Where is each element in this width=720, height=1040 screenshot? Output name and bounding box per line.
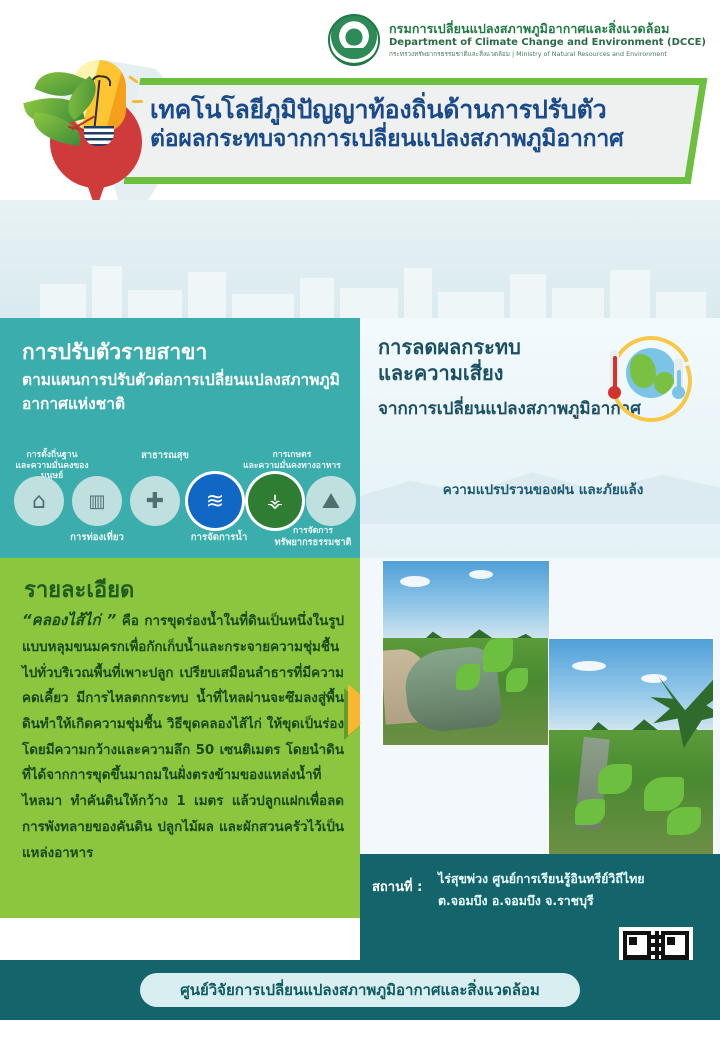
org-ministry: กระทรวงทรัพยากรธรรมชาติและสิ่งแวดล้อม | … [389,51,706,59]
skyline-decoration [0,240,720,318]
title-line1: เทคโนโลยีภูมิปัญญาท้องถิ่นด้านการปรับตัว [150,96,695,125]
photo-canal-water [382,560,550,746]
sector-label-tourism: การท่องเที่ยว [52,532,142,544]
farm-tractor-icon: ⚶ [248,474,302,528]
city-transport-icon: ▥ [72,476,122,526]
location-value: ไร่สุขพ่วง ศูนย์การเรียนรู้อินทรีย์วิถีไ… [438,868,668,913]
sector-label-water-management: การจัดการน้ำ [178,532,260,544]
impact-note: ความแปรปรวนของฝน และภัยแล้ง [378,478,708,500]
dcce-logo: กรมการเปลี่ยนแปลงสภาพภูมิอากาศและสิ่งแวด… [328,14,706,66]
sector-icon-agriculture[interactable]: ⚶ [248,474,302,528]
adaptation-subheading: ตามแผนการปรับตัวต่อการเปลี่ยนแปลงสภาพภูม… [22,368,347,416]
sector-label-natural-resources: การจัดการ ทรัพยากรธรรมชาติ [268,526,358,548]
sector-label-public-health: สาธารณสุข [126,450,204,462]
poster-root: กรมการเปลี่ยนแปลงสภาพภูมิอากาศและสิ่งแวด… [0,0,720,1040]
hospital-icon: ✚ [130,476,180,526]
thermometer-cold-icon [674,358,683,390]
dcce-seal-icon [328,14,380,66]
title-block: เทคโนโลยีภูมิปัญญาท้องถิ่นด้านการปรับตัว… [150,82,695,166]
mountain-river-icon: ⛰ [306,476,356,526]
river-faucet-icon: ≋ [188,474,242,528]
sector-icon-settlement[interactable]: ⌂ [14,476,64,526]
sector-icon-tourism[interactable]: ▥ [72,476,122,526]
org-name-th: กรมการเปลี่ยนแปลงสภาพภูมิอากาศและสิ่งแวด… [389,22,706,37]
footer-pill: ศูนย์วิจัยการเปลี่ยนแปลงสภาพภูมิอากาศและ… [140,973,580,1007]
lightbulb-leaf-map-pin-icon [22,52,154,200]
bottom-strip [0,1020,720,1040]
details-quoted-term: “คลองไส้ไก่ ” [22,611,116,629]
details-body-text: คือ การขุดร่องน้ำในที่ดินเป็นหนึ่งในรูปแ… [22,614,344,861]
title-line2: ต่อผลกระทบจากการเปลี่ยนแปลงสภาพภูมิอากาศ [150,126,695,152]
sector-icon-public-health[interactable]: ✚ [130,476,180,526]
thermometer-hot-icon [610,350,619,390]
globe-thermometer-icon [600,336,692,414]
sector-icon-water-management[interactable]: ≋ [188,474,242,528]
sector-icons-row: การตั้งถิ่นฐาน และความมั่นคงของมนุษย์ สา… [0,448,360,558]
village-house-icon: ⌂ [14,476,64,526]
details-heading: รายละเอียด [24,572,134,607]
photo-canal-plants [548,638,714,856]
technology-name-band: ชื่อเทคโนโลยี : “คลองไส้ไก่” [0,200,720,318]
details-body: “คลองไส้ไก่ ” คือ การขุดร่องน้ำในที่ดินเ… [22,606,344,866]
footer-text: ศูนย์วิจัยการเปลี่ยนแปลงสภาพภูมิอากาศและ… [180,978,540,1002]
adaptation-heading: การปรับตัวรายสาขา [22,336,207,369]
sector-label-agriculture: การเกษตร และความมั่นคงทางอาหาร [238,450,346,471]
location-label: สถานที่ : [372,876,422,897]
sector-icon-natural-resources[interactable]: ⛰ [306,476,356,526]
header: กรมการเปลี่ยนแปลงสภาพภูมิอากาศและสิ่งแวด… [0,0,720,200]
org-name-en: Department of Climate Change and Environ… [389,37,706,49]
impact-heading: การลดผลกระทบ และความเสี่ยง [378,334,608,387]
